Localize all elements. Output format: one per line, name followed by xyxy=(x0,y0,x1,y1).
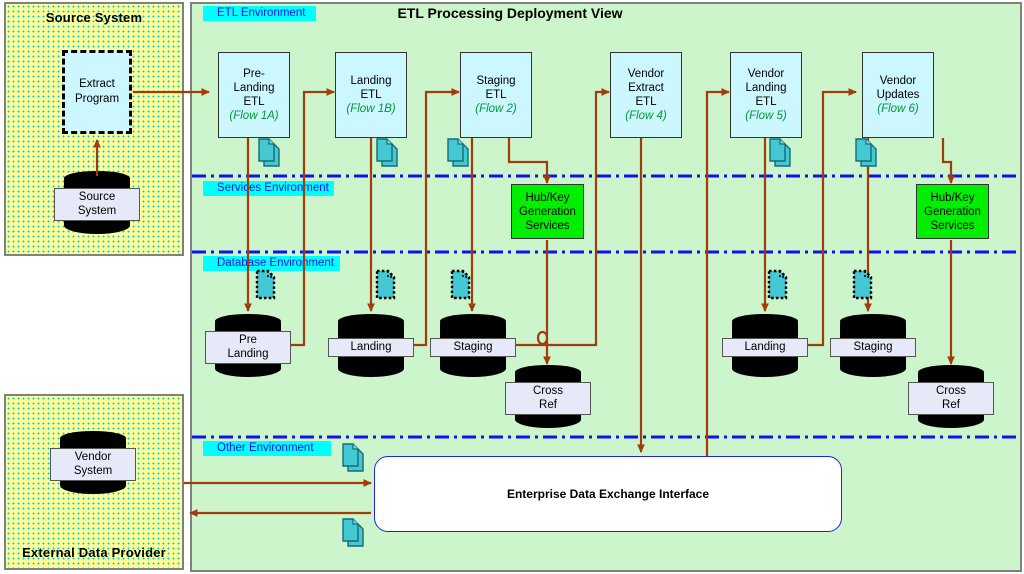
db-label-line2: Ref xyxy=(909,398,993,412)
document-stack-dashed-icon xyxy=(374,268,400,309)
service-box-hub-key-right[interactable]: Hub/Key Generation Services xyxy=(916,184,989,239)
db-label-line1: Staging xyxy=(831,340,915,354)
extract-program-box[interactable]: Extract Program xyxy=(62,50,132,134)
etl-box-line: Vendor xyxy=(748,67,784,81)
database-cylinder-cross-ref-1[interactable]: Cross Ref xyxy=(515,366,581,428)
db-label-line2: System xyxy=(55,204,139,218)
etl-box-line: Extract xyxy=(628,81,664,95)
etl-box-line: Updates xyxy=(877,88,920,102)
external-data-provider-panel-title: External Data Provider xyxy=(6,545,182,560)
db-label-line1: Pre xyxy=(206,333,290,347)
etl-box-flow: (Flow 1B) xyxy=(346,102,395,116)
etl-box-line: ETL xyxy=(360,88,381,102)
document-stack-icon xyxy=(375,138,401,173)
cylinder-cap xyxy=(440,314,506,329)
database-label: Cross Ref xyxy=(505,382,591,415)
db-label-line2: System xyxy=(51,464,135,478)
source-system-panel-title: Source System xyxy=(6,10,182,25)
db-label-line1: Staging xyxy=(431,340,515,354)
source-system-cylinder[interactable]: Source System xyxy=(64,172,130,234)
etl-box-line: Landing xyxy=(351,74,392,88)
document-stack-icon xyxy=(341,443,367,478)
document-stack-icon xyxy=(768,138,794,173)
database-cylinder-landing-2[interactable]: Landing xyxy=(732,315,798,377)
etl-box-flow: (Flow 4) xyxy=(625,109,667,123)
etl-box-line: Vendor xyxy=(628,67,664,81)
etl-box-staging-etl[interactable]: Staging ETL (Flow 2) xyxy=(460,52,532,138)
service-box-line: Generation xyxy=(519,205,576,219)
env-label-etl: ETL Environment xyxy=(203,6,316,21)
etl-box-line: ETL xyxy=(485,88,506,102)
cylinder-cap xyxy=(60,431,126,446)
etl-box-line: Vendor xyxy=(880,74,916,88)
etl-box-vendor-landing-etl[interactable]: Vendor Landing ETL (Flow 5) xyxy=(730,52,802,138)
etl-box-line: Landing xyxy=(234,81,275,95)
vendor-system-cylinder[interactable]: Vendor System xyxy=(60,432,126,494)
database-label: Cross Ref xyxy=(908,382,994,415)
service-box-hub-key-left[interactable]: Hub/Key Generation Services xyxy=(511,184,584,239)
cylinder-cap xyxy=(918,365,984,380)
document-stack-icon xyxy=(854,138,880,173)
document-stack-icon xyxy=(341,518,367,553)
document-stack-icon xyxy=(446,138,472,173)
service-box-line: Services xyxy=(930,219,974,233)
etl-box-flow: (Flow 6) xyxy=(877,102,919,116)
document-stack-dashed-icon xyxy=(766,268,792,309)
database-cylinder-pre-landing[interactable]: Pre Landing xyxy=(215,315,281,377)
etl-box-line: Pre- xyxy=(243,67,265,81)
etl-box-line: Landing xyxy=(746,81,787,95)
diagram-canvas: Source System Extract Program Source Sys… xyxy=(0,0,1024,574)
enterprise-data-exchange-interface[interactable]: Enterprise Data Exchange Interface xyxy=(374,456,842,532)
database-cylinder-landing-1[interactable]: Landing xyxy=(338,315,404,377)
etl-box-pre-landing-etl[interactable]: Pre- Landing ETL (Flow 1A) xyxy=(218,52,290,138)
database-cylinder-staging-1[interactable]: Staging xyxy=(440,315,506,377)
db-label-line1: Cross xyxy=(909,384,993,398)
db-label-line1: Source xyxy=(55,190,139,204)
source-system-cylinder-label: Source System xyxy=(54,188,140,221)
interface-label: Enterprise Data Exchange Interface xyxy=(507,487,709,501)
cylinder-cap xyxy=(515,365,581,380)
etl-box-vendor-updates-etl[interactable]: Vendor Updates (Flow 6) xyxy=(862,52,934,138)
vendor-system-cylinder-label: Vendor System xyxy=(50,448,136,481)
cylinder-cap xyxy=(840,314,906,329)
db-label-line1: Cross xyxy=(506,384,590,398)
etl-box-flow: (Flow 5) xyxy=(745,109,787,123)
database-label: Landing xyxy=(328,338,414,357)
etl-box-line: ETL xyxy=(635,95,656,109)
page-title: ETL Processing Deployment View xyxy=(300,5,720,21)
db-label-line2: Landing xyxy=(206,347,290,361)
extract-program-line1: Extract xyxy=(79,77,115,92)
etl-box-line: ETL xyxy=(755,95,776,109)
db-label-line1: Landing xyxy=(723,340,807,354)
db-label-line1: Vendor xyxy=(51,450,135,464)
env-label-other: Other Environment xyxy=(203,441,331,456)
database-cylinder-staging-2[interactable]: Staging xyxy=(840,315,906,377)
database-label: Landing xyxy=(722,338,808,357)
etl-box-line: ETL xyxy=(243,95,264,109)
etl-box-vendor-extract-etl[interactable]: Vendor Extract ETL (Flow 4) xyxy=(610,52,682,138)
database-label: Pre Landing xyxy=(205,331,291,364)
document-stack-dashed-icon xyxy=(254,268,280,309)
etl-box-line: Staging xyxy=(476,74,515,88)
extract-program-line2: Program xyxy=(75,92,119,107)
etl-box-flow: (Flow 1A) xyxy=(229,109,278,123)
env-label-services: Services Environment xyxy=(203,181,334,196)
cylinder-cap xyxy=(215,314,281,329)
cylinder-cap xyxy=(64,171,130,186)
document-stack-icon xyxy=(257,138,283,173)
document-stack-dashed-icon xyxy=(449,268,475,309)
service-box-line: Hub/Key xyxy=(525,191,569,205)
service-box-line: Services xyxy=(525,219,569,233)
service-box-line: Generation xyxy=(924,205,981,219)
db-label-line1: Landing xyxy=(329,340,413,354)
etl-box-landing-etl[interactable]: Landing ETL (Flow 1B) xyxy=(335,52,407,138)
database-cylinder-cross-ref-2[interactable]: Cross Ref xyxy=(918,366,984,428)
service-box-line: Hub/Key xyxy=(930,191,974,205)
db-label-line2: Ref xyxy=(506,398,590,412)
cylinder-cap xyxy=(338,314,404,329)
database-label: Staging xyxy=(830,338,916,357)
cylinder-cap xyxy=(732,314,798,329)
database-label: Staging xyxy=(430,338,516,357)
document-stack-dashed-icon xyxy=(851,268,877,309)
etl-box-flow: (Flow 2) xyxy=(475,102,517,116)
